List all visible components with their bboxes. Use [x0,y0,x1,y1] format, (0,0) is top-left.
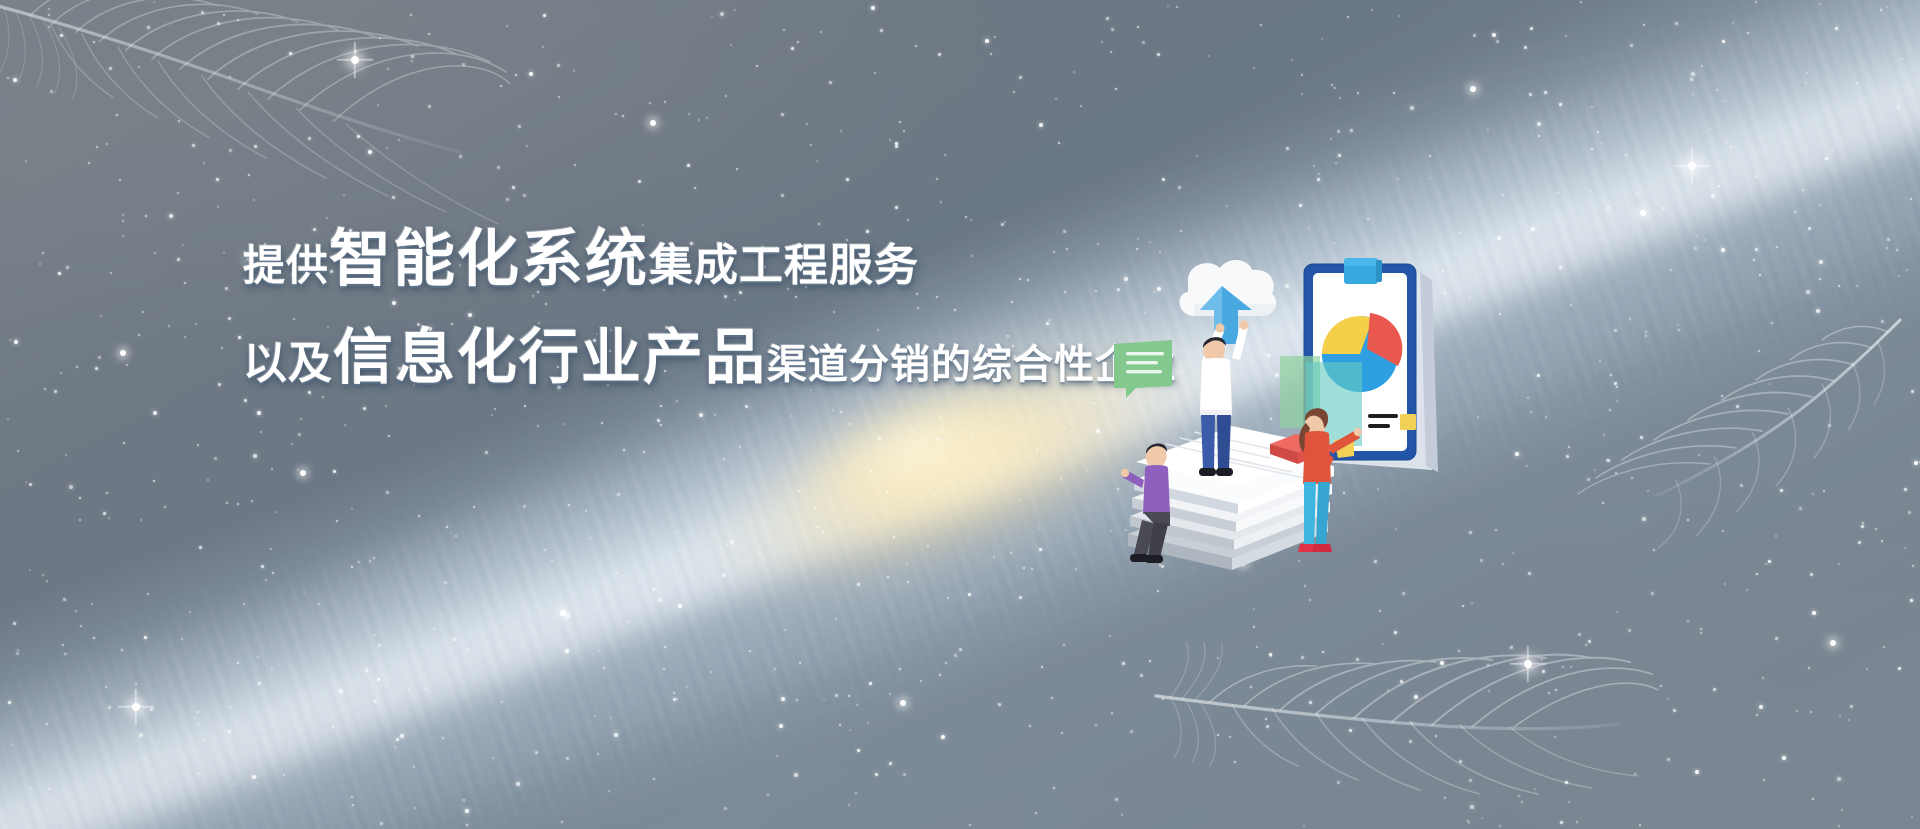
headline-l1-part-2: 智能化系统 [329,228,649,290]
headline-l2-part-1: 以及 [243,342,333,386]
headline-l2-part-2: 信息化行业产品 [333,328,767,388]
chat-bubble-icon [1114,340,1172,398]
business-analytics-illustration [1120,258,1540,598]
hero-banner: 提供智能化系统集成工程服务 以及信息化行业产品渠道分销的综合性企业 [0,0,1920,829]
headline-l1-part-3: 集成工程服务 [649,244,919,288]
headline-l1-part-1: 提供 [243,245,329,287]
